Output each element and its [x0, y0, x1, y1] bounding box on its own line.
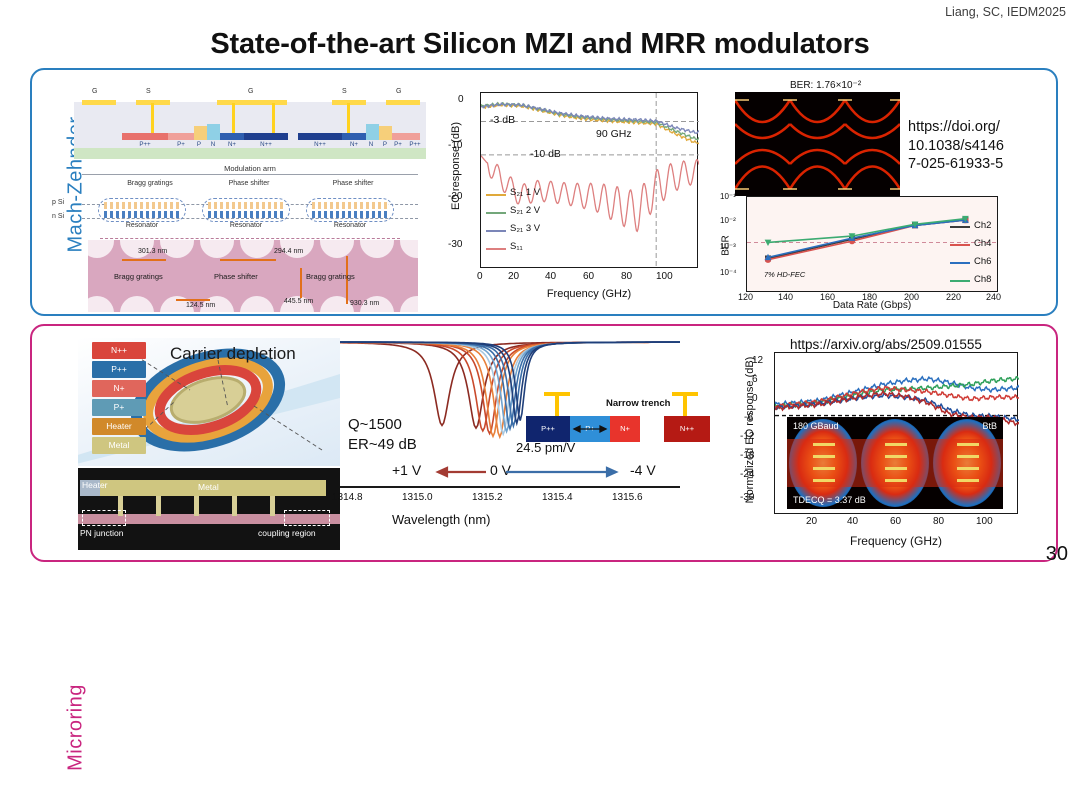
microring-doping-legend: N++ P++ N+ P+ Heater Metal: [92, 342, 146, 456]
resonance-x-axis: [340, 486, 680, 488]
dimension-294-4-nm: 294.4 nm: [274, 248, 303, 255]
doping-label-7: N+: [342, 141, 366, 148]
rib-bump-left2: [207, 124, 220, 134]
doping-bar-5: [244, 133, 288, 140]
doping-label-1: P+: [168, 141, 194, 148]
ber-ytick-3: 10⁻⁴: [720, 268, 737, 277]
ber-legend-swatch-2: [950, 262, 970, 264]
electrode-pad-g2: [217, 100, 287, 105]
eo-xtick-1: 20: [508, 271, 519, 282]
eo-xtick-3: 60: [583, 271, 594, 282]
grating-n-1: [104, 211, 180, 218]
mrr-eo-ytick-7: -30: [740, 492, 754, 503]
gate-label-s2: S: [342, 88, 347, 95]
doping-bar-8: [366, 133, 379, 140]
eo-xtick-4: 80: [621, 271, 632, 282]
mzi-modulation-arm-diagram: Modulation arm Bragg gratings Phase shif…: [74, 168, 426, 234]
sem-label-metal: Metal: [198, 482, 219, 492]
eo-ytick-3: -30: [448, 239, 462, 250]
eo-legend-swatch-1: [486, 212, 506, 214]
sem-coupling-box: [284, 510, 330, 526]
annotation-er: ER~49 dB: [348, 436, 417, 453]
grating-n-3: [312, 211, 388, 218]
arm-caption-phase-shifter-1: Phase shifter: [206, 180, 292, 187]
sem-caption-phase-shifter: Phase shifter: [214, 272, 258, 281]
sem-via-4: [270, 496, 275, 516]
eo-legend-swatch-3: [486, 248, 506, 250]
mrr-eo-ytick-6: -24: [740, 469, 754, 480]
doping-bar-2: [194, 133, 207, 140]
eye-ber-title: BER: 1.76×10⁻²: [790, 80, 861, 91]
rib-bump-left: [194, 126, 207, 134]
via-g2a: [232, 103, 235, 136]
sem-via-1: [156, 496, 161, 516]
mzi-reference-line-0: https://doi.org/: [908, 118, 1058, 137]
doping-bar-10b: [392, 133, 420, 140]
ber-fec-label: 7% HD-FEC: [764, 270, 805, 279]
annotation-narrow-trench: Narrow trench: [606, 398, 670, 409]
legend-chip-p-plus: P+: [92, 399, 146, 416]
doping-bar-7: [342, 133, 366, 140]
doping-bar-1: [168, 133, 194, 140]
annotation-minus-10db: -10 dB: [530, 148, 561, 160]
sem-notch-t7: [360, 240, 394, 258]
arm-extent-line: [82, 174, 418, 175]
sem-notch-b4: [240, 296, 274, 312]
rib-bump-right2: [366, 124, 379, 134]
mrr-eo-plot-area: 180 GBaud BtB TDECQ = 3.37 dB: [774, 352, 1018, 514]
sem-notch-t0: [88, 240, 114, 258]
ber-legend-swatch-3: [950, 280, 970, 282]
eo-legend-label-1: S₂₁ 2 V: [510, 205, 540, 216]
doping-label-8: N: [364, 141, 378, 148]
mzi-reference-line-1: 10.1038/s4146: [908, 137, 1058, 156]
legend-chip-n-plus: N+: [92, 380, 146, 397]
modulation-arm-label: Modulation arm: [74, 164, 426, 173]
gate-label-s1: S: [146, 88, 151, 95]
mrr-eo-xtick-3: 80: [933, 516, 944, 527]
doping-bar-0: [122, 133, 168, 140]
eo-legend-label-2: S₂₁ 3 V: [510, 223, 540, 234]
doping-label-6: N++: [298, 141, 342, 148]
resonance-x-axis-label: Wavelength (nm): [392, 512, 491, 527]
bias-label-plus-1v: +1 V: [392, 462, 421, 478]
terminal-stem-left: [555, 394, 559, 416]
resonator-label-1: Resonator: [98, 222, 186, 229]
mzi-reference-line-2: 7-025-61933-5: [908, 155, 1058, 174]
xsec-substrate: [74, 148, 426, 159]
doping-label-0: P++: [122, 141, 168, 148]
sem-via-3: [232, 496, 237, 516]
eo-ytick-2: -20: [448, 191, 462, 202]
doping-label-4: N+: [220, 141, 244, 148]
via-s1: [151, 103, 154, 136]
doping-bar-3: [207, 133, 220, 140]
dim-arrow-301: [122, 259, 166, 261]
carrier-depletion-title: Carrier depletion: [170, 344, 296, 364]
layer-label-p-si: p Si: [52, 199, 64, 206]
eo-legend-swatch-0: [486, 194, 506, 196]
microring-resonance-chart: Q~1500 ER~49 dB +1 V 0 V -4 V 1314.8 131…: [340, 336, 712, 560]
annotation-q-factor: Q~1500: [348, 416, 402, 433]
ber-legend-label-0: Ch2: [974, 220, 991, 231]
eo-y-axis-label: EO response (dB): [450, 86, 462, 246]
rib-bump-right: [379, 126, 392, 134]
trench-width-arrow: [568, 424, 612, 434]
eo-ytick-0: 0: [458, 94, 464, 105]
eo-legend-label-3: S₁₁: [510, 241, 523, 252]
sem-notch-t3: [200, 240, 234, 258]
sem-zoom-connector: [100, 238, 400, 239]
doping-bar-4: [220, 133, 244, 140]
sem-notch-t6: [320, 240, 354, 258]
page-title: State-of-the-art Silicon MZI and MRR mod…: [0, 28, 1080, 61]
sem-notch-t8: [400, 240, 418, 258]
via-s2: [347, 103, 350, 136]
legend-chip-p-plus-plus: P++: [92, 361, 146, 378]
arm-caption-phase-shifter-2: Phase shifter: [310, 180, 396, 187]
sem-notch-b6: [320, 296, 354, 312]
doping-label-5: N++: [244, 141, 288, 148]
eo-x-axis-label: Frequency (GHz): [480, 288, 698, 300]
sem-notch-b1: [120, 296, 154, 312]
eo-legend-label-0: S₂₁ 1 V: [510, 187, 540, 198]
ber-xtick-3: 180: [862, 292, 877, 302]
layer-label-n-si: n Si: [52, 213, 64, 220]
mrr-eye-label-baud: 180 GBaud: [793, 421, 839, 431]
sem-caption-bragg-1: Bragg gratings: [114, 272, 163, 281]
pn-block-n-plus: N+: [610, 416, 640, 442]
mrr-eo-x-axis-label: Frequency (GHz): [774, 534, 1018, 548]
doping-bar-6: [298, 133, 342, 140]
dim-arrow-124: [176, 299, 210, 301]
dimension-124-5-nm: 124.5 nm: [186, 302, 215, 309]
doping-label-2: P: [192, 141, 206, 148]
ber-xtick-0: 120: [738, 292, 753, 302]
mzi-ber-chart: BER Data Rate (Gbps) 10⁻¹ 10⁻² 10⁻³ 10⁻⁴…: [714, 196, 1004, 314]
ber-legend-swatch-1: [950, 244, 970, 246]
eo-legend-swatch-2: [486, 230, 506, 232]
mrr-eo-ytick-4: -12: [740, 431, 754, 442]
dim-arrow-445: [300, 268, 302, 298]
eo-ytick-1: -10: [448, 140, 462, 151]
resonance-xtick-1: 1315.0: [402, 492, 433, 503]
legend-chip-metal: Metal: [92, 437, 146, 454]
dimension-301-3-nm: 301.3 nm: [138, 248, 167, 255]
ber-xtick-2: 160: [820, 292, 835, 302]
mrr-eo-xtick-0: 20: [806, 516, 817, 527]
sem-notch-b8: [400, 296, 418, 312]
pn-block-p-plus-plus: P++: [526, 416, 570, 442]
pn-block-n-plus-plus: N++: [664, 416, 710, 442]
terminal-stem-right: [683, 394, 687, 416]
annotation-minus-3db: -3 dB: [490, 114, 515, 126]
annotation-tuning-efficiency: 24.5 pm/V: [516, 440, 575, 455]
ber-xtick-5: 220: [946, 292, 961, 302]
sem-label-pn-junction: PN junction: [80, 528, 123, 538]
ber-legend-label-3: Ch8: [974, 274, 991, 285]
resonance-xtick-2: 1315.2: [472, 492, 503, 503]
mrr-eo-ytick-2: 0: [752, 393, 758, 404]
electrode-pad-g1: [82, 100, 116, 105]
mrr-eo-ytick-1: 6: [752, 374, 758, 385]
gate-label-g2: G: [248, 88, 253, 95]
resonance-xtick-4: 1315.6: [612, 492, 643, 503]
gate-label-g1: G: [92, 88, 97, 95]
arm-caption-bragg-gratings: Bragg gratings: [104, 180, 196, 187]
grating-p-3: [312, 202, 388, 209]
annotation-90ghz: 90 GHz: [596, 128, 632, 140]
mrr-eo-xtick-2: 60: [890, 516, 901, 527]
mzi-reference-link[interactable]: https://doi.org/ 10.1038/s4146 7-025-619…: [908, 118, 1058, 174]
gate-label-g3: G: [396, 88, 401, 95]
mrr-eye-label-mode: BtB: [982, 421, 997, 431]
mrr-eo-xtick-4: 100: [976, 516, 993, 527]
mrr-eo-ytick-0: 12: [752, 355, 763, 366]
mzi-eo-response-chart: EO response (dB) Frequency (GHz) 0 -10 -…: [438, 88, 714, 312]
sem-pn-box: [82, 510, 126, 526]
sem-notch-b0: [88, 296, 114, 312]
resonator-label-2: Resonator: [202, 222, 290, 229]
mrr-eo-xtick-1: 40: [847, 516, 858, 527]
author-credit: Liang, SC, IEDM2025: [945, 5, 1066, 19]
mrr-eye-diagram: 180 GBaud BtB TDECQ = 3.37 dB: [787, 417, 1003, 509]
bias-label-minus-4v: -4 V: [630, 462, 656, 478]
electrode-pad-g3: [386, 100, 420, 105]
mzi-eye-diagram: [735, 92, 900, 197]
ber-legend-swatch-0: [950, 226, 970, 228]
bias-arrows: [420, 464, 628, 480]
grating-p-1: [104, 202, 180, 209]
mrr-reference-link[interactable]: https://arxiv.org/abs/2509.01555: [790, 336, 982, 353]
microring-eo-response-chart: 180 GBaud BtB TDECQ = 3.37 dB Normalized…: [720, 352, 1050, 560]
mzi-cross-section-diagram: G S G S G P++ P+ P N N+ N++ N++ N+ N P P…: [74, 88, 426, 163]
grating-n-2: [208, 211, 284, 218]
ber-ytick-2: 10⁻³: [720, 242, 736, 251]
via-g2b: [272, 103, 275, 136]
resonance-xtick-3: 1315.4: [542, 492, 573, 503]
eo-xtick-0: 0: [477, 271, 483, 282]
sem-via-2: [194, 496, 199, 516]
ber-xtick-4: 200: [904, 292, 919, 302]
sem-notch-t4: [240, 240, 274, 258]
eo-xtick-5: 100: [656, 271, 673, 282]
dimension-930-3-nm: 930.3 nm: [350, 300, 379, 307]
mrr-eye-label-tdecq: TDECQ = 3.37 dB: [793, 495, 866, 505]
doping-label-11: P++: [404, 141, 426, 148]
sem-label-coupling-region: coupling region: [258, 528, 316, 538]
doping-label-3: N: [206, 141, 220, 148]
slide-number: 30: [1046, 543, 1068, 566]
grating-p-2: [208, 202, 284, 209]
doping-bar-9: [379, 133, 392, 140]
sem-caption-bragg-2: Bragg gratings: [306, 272, 355, 281]
ber-ytick-1: 10⁻²: [720, 216, 736, 225]
ber-ytick-0: 10⁻¹: [720, 192, 736, 201]
microring-sem-cross-section: Heater Metal PN junction coupling region: [78, 468, 340, 550]
eye-traces: [735, 92, 900, 197]
ber-legend-label-1: Ch4: [974, 238, 991, 249]
legend-chip-n-plus-plus: N++: [92, 342, 146, 359]
mrr-eo-ytick-3: -6: [744, 412, 753, 423]
mzi-sem-image: 301.3 nm 294.4 nm 124.5 nm 445.5 nm 930.…: [88, 240, 418, 312]
ber-xtick-1: 140: [778, 292, 793, 302]
legend-chip-heater: Heater: [92, 418, 146, 435]
mrr-eo-ytick-5: -18: [740, 450, 754, 461]
resonator-label-3: Resonator: [306, 222, 394, 229]
dimension-445-5-nm: 445.5 nm: [284, 298, 313, 305]
dim-arrow-294: [220, 259, 276, 261]
microring-section-label: Microring: [65, 648, 88, 808]
eo-xtick-2: 40: [545, 271, 556, 282]
resonance-xtick-0: 1314.8: [332, 492, 363, 503]
ber-xtick-6: 240: [986, 292, 1001, 302]
ber-legend-label-2: Ch6: [974, 256, 991, 267]
sem-label-heater: Heater: [82, 480, 108, 490]
